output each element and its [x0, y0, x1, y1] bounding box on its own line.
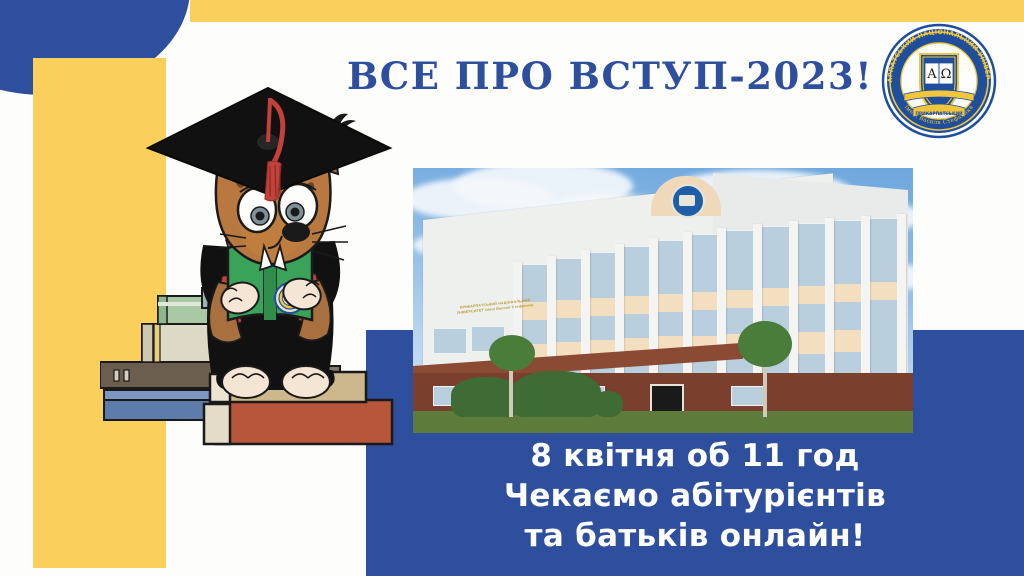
- poster-canvas: ВСЕ ПРО ВСТУП-2023! ПРИКАРПАТСЬКИЙ НАЦІО…: [0, 0, 1024, 576]
- column: [897, 214, 906, 374]
- svg-text:Α: Α: [926, 67, 937, 82]
- window: [433, 328, 467, 354]
- yellow-top-strip: [190, 0, 1024, 22]
- facade-panel: [797, 286, 825, 304]
- facade-panel: [761, 288, 789, 306]
- announcement-line-3: та батьків онлайн!: [380, 516, 1010, 556]
- page-title: ВСЕ ПРО ВСТУП-2023!: [330, 54, 890, 98]
- svg-text:Ω: Ω: [941, 67, 952, 82]
- facade-panel: [589, 298, 615, 316]
- column: [861, 216, 870, 374]
- tree-canopy: [489, 335, 535, 371]
- lynx-mascot-illustration: ПНУ: [100, 70, 400, 510]
- facade-panel: [691, 292, 717, 310]
- window: [731, 386, 767, 406]
- bush: [593, 391, 623, 417]
- facade-panel: [555, 300, 581, 318]
- graduation-cap-icon: [148, 88, 390, 201]
- facade-panel: [797, 332, 825, 354]
- tree-canopy: [738, 321, 792, 367]
- facade-panel: [725, 290, 753, 308]
- university-building-photo: ПРИКАРПАТСЬКИЙ НАЦІОНАЛЬНИЙ УНІВЕРСИТЕТ …: [413, 168, 913, 433]
- announcement-line-2: Чекаємо абітурієнтів: [380, 476, 1010, 516]
- announcement-line-1: 8 квітня об 11 год: [380, 436, 1010, 476]
- facade-panel: [623, 296, 649, 314]
- university-seal-logo: ПРИКАРПАТСЬКИЙ НАЦІОНАЛЬНИЙ УНІВЕРСИТЕТ …: [880, 22, 998, 140]
- facade-panel: [869, 282, 897, 300]
- column: [825, 218, 834, 374]
- facade-panel: [833, 284, 861, 302]
- facade-panel: [833, 330, 861, 352]
- building-emblem: [671, 184, 705, 218]
- bush: [511, 371, 601, 417]
- facade-panel: [657, 294, 683, 312]
- announcement-text: 8 квітня об 11 год Чекаємо абітурієнтів …: [380, 436, 1010, 556]
